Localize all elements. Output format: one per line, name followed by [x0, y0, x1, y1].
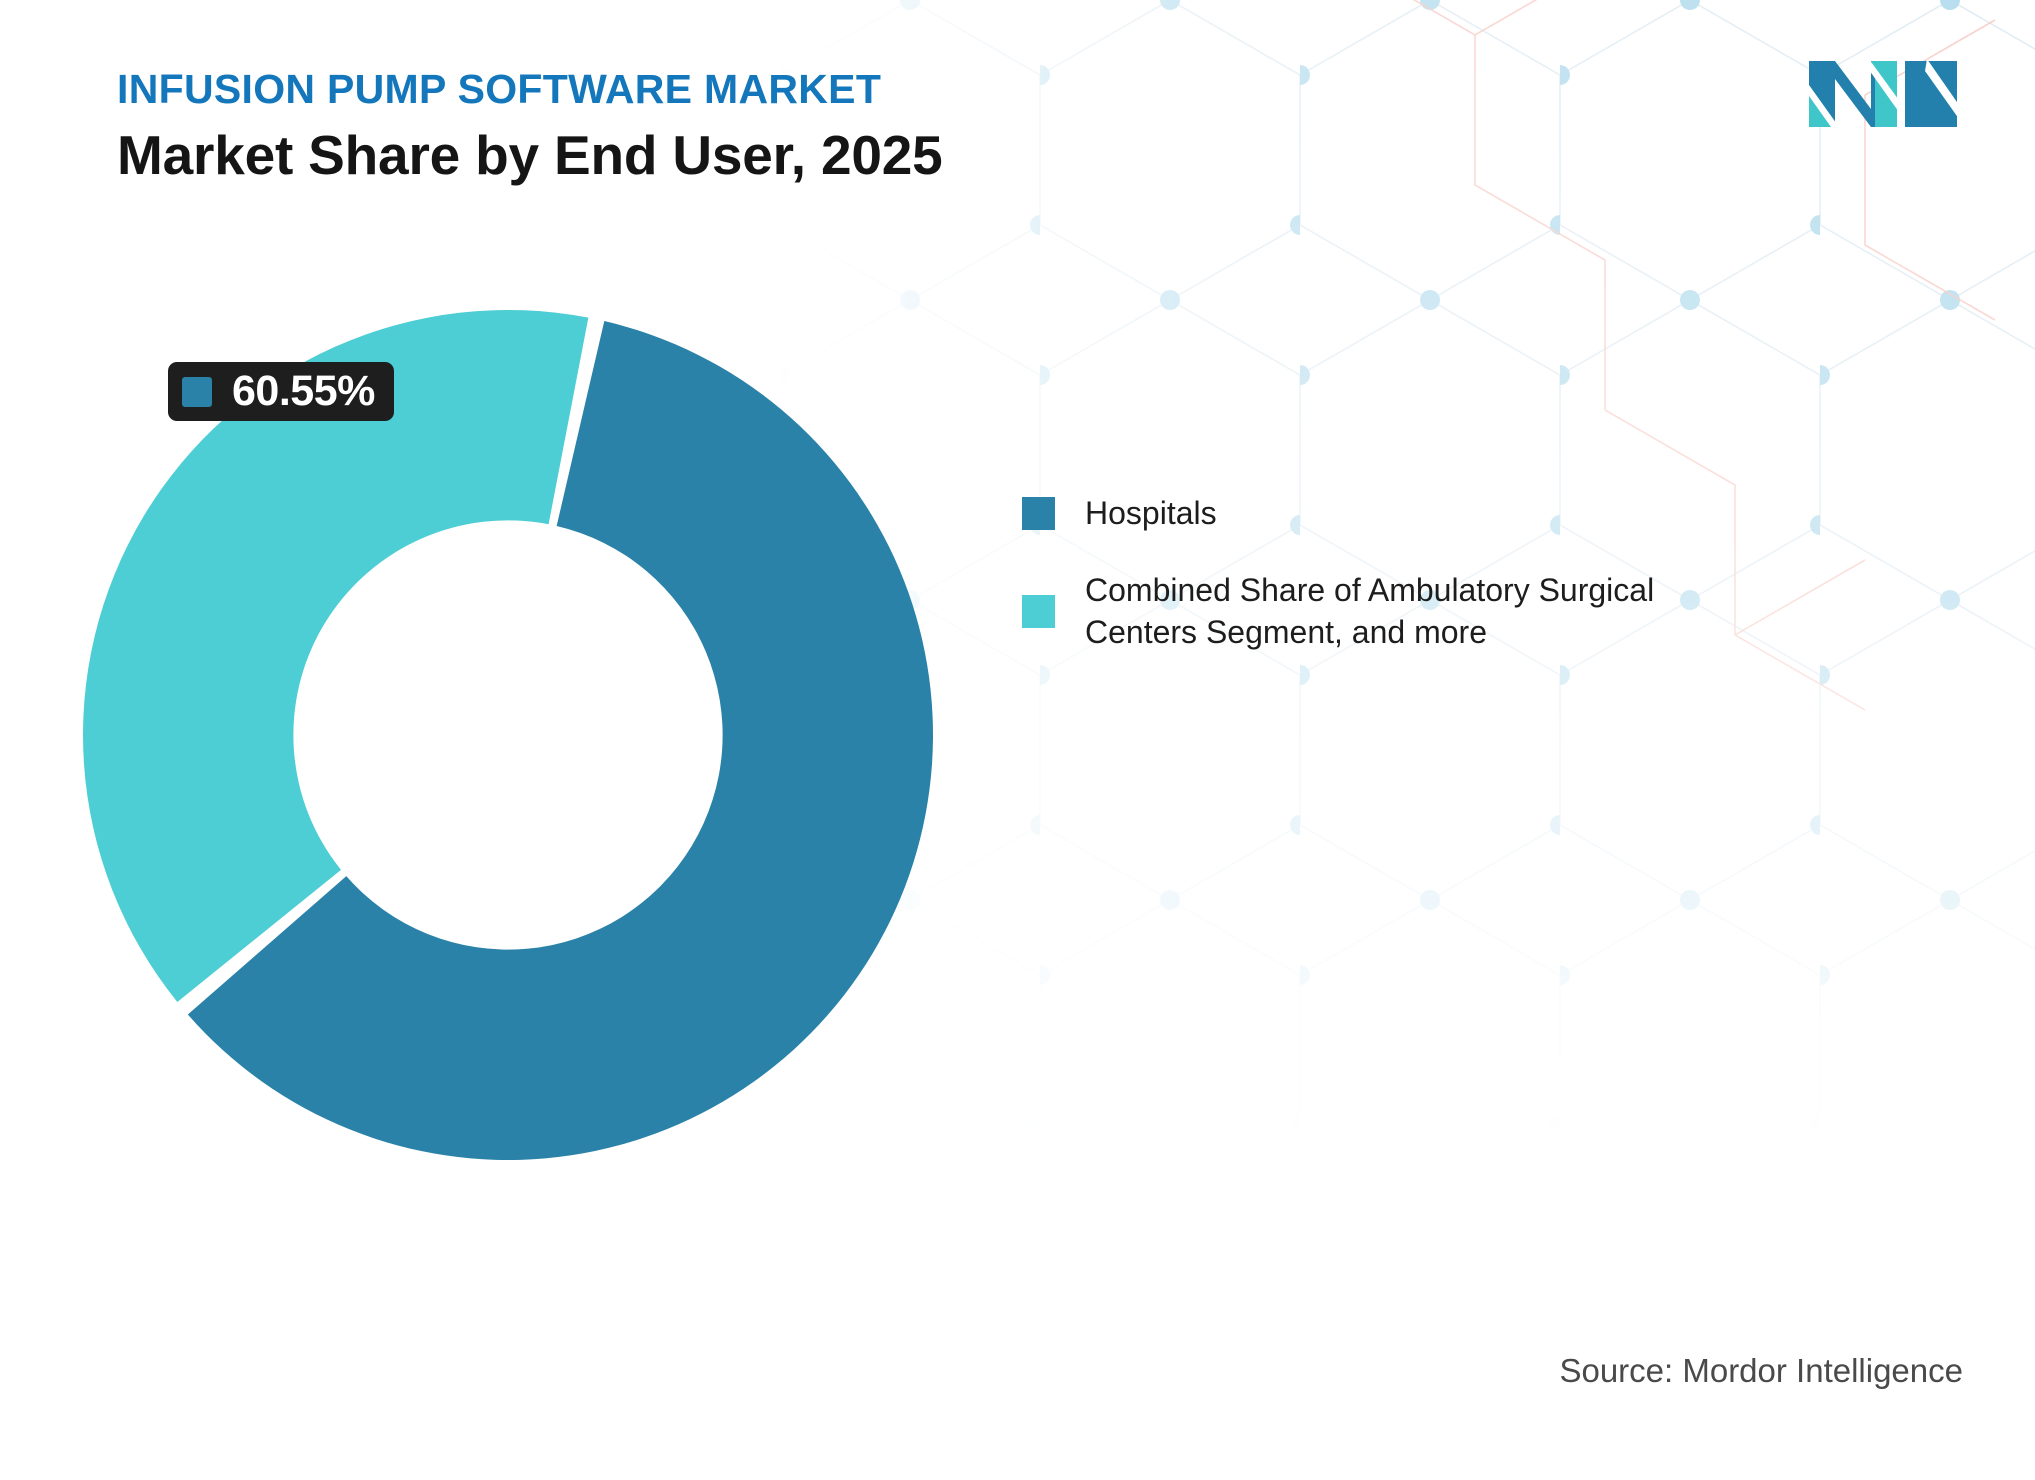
source-note: Source: Mordor Intelligence: [1559, 1352, 1963, 1390]
legend-label-combined: Combined Share of Ambulatory Surgical Ce…: [1085, 569, 1662, 654]
chart-legend: Hospitals Combined Share of Ambulatory S…: [1022, 492, 1662, 688]
legend-item-combined[interactable]: Combined Share of Ambulatory Surgical Ce…: [1022, 569, 1662, 654]
legend-label-hospitals: Hospitals: [1085, 492, 1217, 535]
page-title: Market Share by End User, 2025: [117, 125, 1317, 186]
mordor-intelligence-logo-icon: [1809, 55, 1957, 133]
market-eyebrow-title: INFUSION PUMP SOFTWARE MARKET: [117, 68, 1317, 111]
legend-swatch-hospitals: [1022, 497, 1055, 530]
chart-page: INFUSION PUMP SOFTWARE MARKET Market Sha…: [0, 0, 2035, 1480]
legend-item-hospitals[interactable]: Hospitals: [1022, 492, 1662, 535]
donut-chart-svg: [83, 310, 933, 1160]
callout-value-label: 60.55%: [232, 370, 375, 413]
callout-color-swatch: [182, 377, 212, 407]
data-label-callout: 60.55%: [168, 362, 394, 421]
page-header: INFUSION PUMP SOFTWARE MARKET Market Sha…: [117, 68, 1317, 186]
donut-chart: [83, 310, 933, 1160]
legend-swatch-combined: [1022, 595, 1055, 628]
